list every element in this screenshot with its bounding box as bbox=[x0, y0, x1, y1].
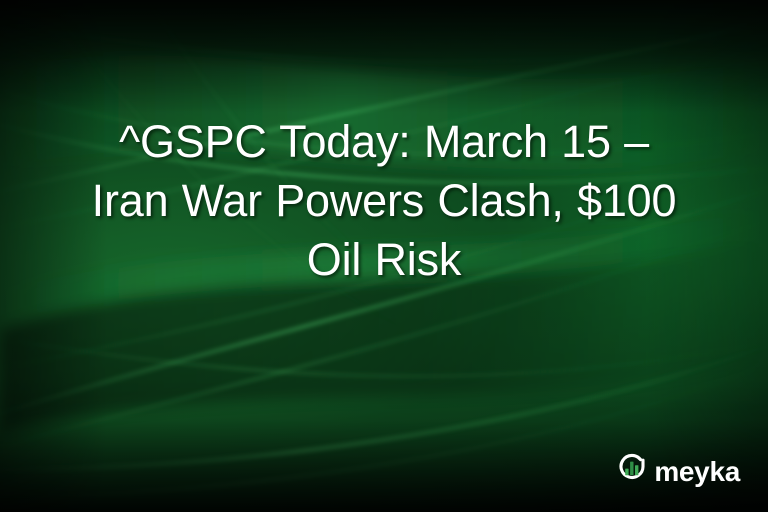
headline-line-1: ^GSPC Today: March 15 – bbox=[34, 112, 734, 171]
meyka-logo[interactable]: meyka bbox=[615, 451, 740, 490]
logo-wordmark: meyka bbox=[654, 458, 740, 486]
headline-line-3: Oil Risk bbox=[34, 230, 734, 289]
page-title: ^GSPC Today: March 15 – Iran War Powers … bbox=[34, 112, 734, 289]
article-banner: ^GSPC Today: March 15 – Iran War Powers … bbox=[0, 0, 768, 512]
headline-container: ^GSPC Today: March 15 – Iran War Powers … bbox=[0, 0, 768, 512]
headline-line-2: Iran War Powers Clash, $100 bbox=[34, 171, 734, 230]
bar-chart-in-circle-icon bbox=[615, 451, 649, 490]
